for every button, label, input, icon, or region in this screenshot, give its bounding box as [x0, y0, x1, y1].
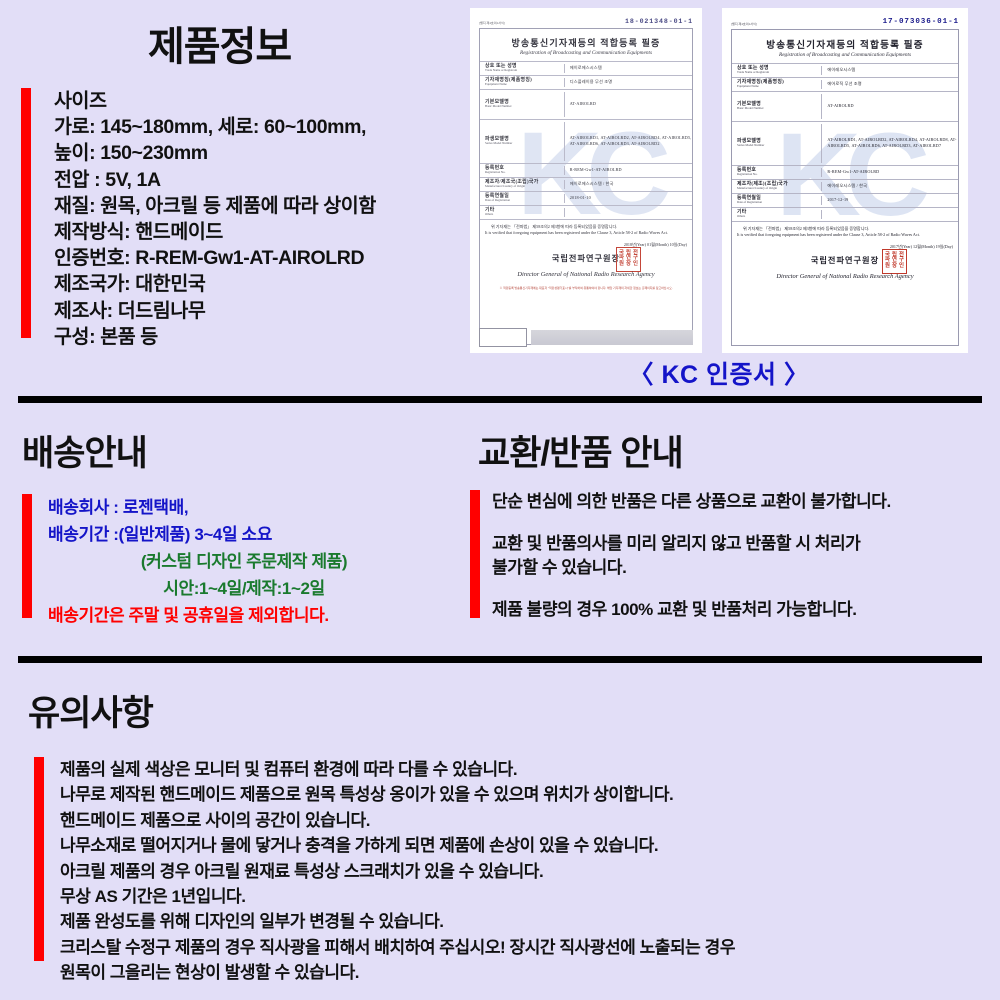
certificate-field-row: 등록연월일Date of Registration2017-12-19 — [732, 193, 958, 207]
certificate-1-verify-en: It is verified that foregoing equipment … — [485, 230, 687, 236]
certificate-2-doc-number: 17-073036-01-1 — [883, 18, 959, 26]
kc-certificate-image-2[interactable]: [별지 제4호의2서식] 17-073036-01-1 KC 방송통신기자재등의… — [722, 8, 968, 353]
certificate-2-signer-ko: 국립전파연구원장 국립전 파연구 원장인 — [737, 255, 953, 268]
exchange-return-policy-item: 제품 불량의 경우 100% 교환 및 반품처리 가능합니다. — [492, 598, 992, 622]
certificate-field-label-en: Others — [485, 213, 564, 216]
product-spec-line: 제조국가: 대한민국 — [54, 271, 454, 297]
shipping-accent-bar — [22, 494, 32, 618]
certificate-field-label: 등록연월일Date of Registration — [480, 194, 565, 203]
certificate-field-row: 기본모델명Basic Model NumberAT-AIROLRD — [480, 89, 692, 119]
certificate-field-row: 파생모델명Series Model NumberAT-AIROLRD1, AT-… — [480, 119, 692, 163]
certificate-field-value: 에어로직 무선 조명 — [822, 81, 958, 87]
certificate-field-label: 기본모델명Basic Model Number — [480, 92, 565, 117]
certificate-field-value: 에이로에스시스템 / 한국 — [565, 181, 692, 187]
certificate-field-label: 제조자/제조국(조립)국가Manufacturer/Country of Ori… — [480, 180, 565, 189]
certificate-field-label-en: Basic Model Number — [737, 107, 821, 110]
certificate-1-title-en: Registration of Broadcasting and Communi… — [480, 50, 692, 56]
certificate-field-label: 등록연월일Date of Registration — [732, 196, 822, 205]
shipping-info-line: (커스텀 디자인 주문제작 제품) — [48, 548, 458, 575]
notice-line: 제품 완성도를 위해 디자인의 일부가 변경될 수 있습니다. — [60, 909, 990, 934]
certificate-field-label-en: Registration No. — [737, 173, 821, 176]
certificate-1-topline: [별지 제4호의2서식] 18-021348-01-1 — [479, 18, 693, 25]
certificate-field-value: 에이레오시스템 — [822, 67, 958, 73]
certificate-field-label: 기자재명칭(제품명칭)Equipment Name — [732, 80, 822, 89]
kc-certificate-image-1[interactable]: [별지 제4호의2서식] 18-021348-01-1 KC 방송통신기자재등의… — [470, 8, 702, 353]
certificate-field-label-en: Others — [737, 215, 821, 218]
certificate-2-date: 2017년(Year) 12월(Month) 19일(Day) — [737, 244, 953, 250]
shipping-info-line: 시안:1~4일/제작:1~2일 — [48, 575, 458, 602]
certificate-field-value: R-REM-Gw1-AT-AIROLRD — [822, 169, 958, 175]
certificate-1-footnote: ※ 적합등록 방송통신기자재에는 대표자 "적합성평가표시"를 부착하여 유통하… — [485, 286, 687, 290]
exchange-return-policy-list: 단순 변심에 의한 반품은 다른 상품으로 교환이 불가합니다.교환 및 반품의… — [492, 490, 992, 622]
certificate-field-label: 파생모델명Series Model Number — [732, 124, 822, 163]
certificate-field-label: 기본모델명Basic Model Number — [732, 94, 822, 119]
notice-accent-bar — [34, 757, 44, 961]
certificate-field-label-en: Equipment Name — [737, 85, 821, 88]
certificate-1-signer-ko: 국립전파연구원장 국립전 파연구 원장인 — [485, 253, 687, 266]
certificate-1-body: KC 방송통신기자재등의 적합등록 필증 Registration of Bro… — [479, 28, 693, 345]
certificate-1-content: [별지 제4호의2서식] 18-021348-01-1 KC 방송통신기자재등의… — [470, 8, 702, 353]
product-spec-list: 사이즈가로: 145~180mm, 세로: 60~100mm,높이: 150~2… — [54, 88, 454, 350]
certificate-field-label: 기타Others — [480, 208, 565, 217]
certificate-2-title-ko: 방송통신기자재등의 적합등록 필증 — [732, 37, 958, 51]
certificate-1-bottom-strip — [479, 328, 693, 347]
product-spec-line: 사이즈 — [54, 88, 454, 114]
certificate-field-value: AT-AIROLRD1, AT-AIROLRD2, AT-AIROLRD4, A… — [822, 137, 958, 149]
notice-list: 제품의 실제 색상은 모니터 및 컴퓨터 환경에 따라 다를 수 있습니다.나무… — [60, 757, 990, 986]
certificate-1-date: 2018년(Year) 01월(Month) 10일(Day) — [485, 242, 687, 248]
certificate-field-label-en: Series Model Number — [485, 142, 564, 145]
certificate-field-label: 파생모델명Series Model Number — [480, 122, 565, 161]
exchange-return-accent-bar — [470, 490, 480, 618]
certificate-1-field-rows: 상호 또는 성명Trade Name or Registrant에이로에스시스템… — [480, 61, 692, 219]
certificate-1-signer-ko-text: 국립전파연구원장 — [552, 254, 620, 263]
certificate-2-body: KC 방송통신기자재등의 적합등록 필증 Registration of Bro… — [731, 29, 959, 346]
product-spec-line: 인증번호: R-REM-Gw1-AT-AIROLRD — [54, 245, 454, 271]
official-seal-stamp-icon: 국립전 파연구 원장인 — [882, 249, 907, 274]
certificate-2-topline: [별지 제4호의2서식] 17-073036-01-1 — [731, 18, 959, 26]
certificate-field-row: 등록번호Registration No.R-REM-Gw1-AT-AIROLRD — [732, 165, 958, 179]
certificate-field-label-en: Date of Registration — [737, 201, 821, 204]
certificate-field-value: 2017-12-19 — [822, 197, 958, 203]
certificate-2-field-rows: 상호 또는 성명Trade Name or Registrant에이레오시스템기… — [732, 63, 958, 221]
certificate-field-value: 에이로에스시스템 — [565, 65, 692, 71]
certificate-field-row: 등록번호Registration No.R-REM-Gw1-AT-AIROLRD — [480, 163, 692, 177]
certificate-field-row: 제조자(제조)(조립)국가Manufacturer/Country of Ori… — [732, 179, 958, 193]
certificate-2-title-en: Registration of Broadcasting and Communi… — [732, 52, 958, 58]
certificate-1-doc-number: 18-021348-01-1 — [625, 18, 693, 25]
certificate-field-row: 상호 또는 성명Trade Name or Registrant에이레오시스템 — [732, 63, 958, 77]
notice-line: 제품의 실제 색상은 모니터 및 컴퓨터 환경에 따라 다를 수 있습니다. — [60, 757, 990, 782]
certificate-2-form-code: [별지 제4호의2서식] — [731, 21, 757, 26]
certificate-field-label-en: Manufacturer/Country of Origin — [485, 185, 564, 188]
notice-line: 무상 AS 기간은 1년입니다. — [60, 884, 990, 909]
product-detail-page: 제품정보 사이즈가로: 145~180mm, 세로: 60~100mm,높이: … — [0, 0, 1000, 1000]
certificate-field-row: 등록연월일Date of Registration2018-01-10 — [480, 191, 692, 205]
certificate-field-label: 등록번호Registration No. — [480, 166, 565, 175]
certificate-1-title-ko: 방송통신기자재등의 적합등록 필증 — [480, 36, 692, 49]
certificate-2-verify-en: It is verified that foregoing equipment … — [737, 232, 953, 238]
notice-heading: 유의사항 — [28, 685, 153, 736]
certificate-field-row: 기본모델명Basic Model NumberAT-AIROLRD — [732, 91, 958, 121]
notice-line: 핸드메이드 제품으로 사이의 공간이 있습니다. — [60, 808, 990, 833]
certificate-1-footer: 위 기자재는 「전파법」 제58조의2 제3항에 따라 등록되었음을 증명합니다… — [480, 219, 692, 291]
product-info-heading: 제품정보 — [148, 14, 291, 72]
certificate-field-label-en: Manufacturer/Country of Origin — [737, 187, 821, 190]
kc-certificate-caption: 〈 KC 인증서 〉 — [470, 355, 968, 391]
certificate-field-value: 에이레오시스템 / 한국 — [822, 183, 958, 189]
shipping-info-list: 배송회사 : 로젠택배,배송기간 :(일반제품) 3~4일 소요(커스텀 디자인… — [48, 494, 458, 629]
certificate-field-label-en: Date of Registration — [485, 199, 564, 202]
certificate-field-value: AT-AIROLRD — [565, 101, 692, 107]
certificate-field-label-en: Registration No. — [485, 171, 564, 174]
certificate-field-label: 상호 또는 성명Trade Name or Registrant — [732, 66, 822, 75]
certificate-field-label-en: Equipment Name — [485, 83, 564, 86]
notice-line: 아크릴 제품의 경우 아크릴 원재료 특성상 스크래치가 있을 수 있습니다. — [60, 859, 990, 884]
certificate-2-signer-en: Director General of National Radio Resea… — [737, 272, 953, 282]
certificate-field-label-en: Trade Name or Registrant — [485, 69, 564, 72]
product-spec-line: 전압 : 5V, 1A — [54, 167, 454, 193]
certificate-field-value: AT-AIROLRD — [822, 103, 958, 109]
certificate-field-value: 디스플레이용 무선 조명 — [565, 79, 692, 85]
exchange-return-policy-item: 단순 변심에 의한 반품은 다른 상품으로 교환이 불가합니다. — [492, 490, 992, 514]
certificate-field-row: 기자재명칭(제품명칭)Equipment Name디스플레이용 무선 조명 — [480, 75, 692, 89]
certificate-1-form-code: [별지 제4호의2서식] — [479, 20, 505, 25]
certificate-field-row: 기자재명칭(제품명칭)Equipment Name에어로직 무선 조명 — [732, 77, 958, 91]
product-spec-line: 제조사: 더드림나무 — [54, 298, 454, 324]
certificate-field-row: 파생모델명Series Model NumberAT-AIROLRD1, AT-… — [732, 121, 958, 165]
shipping-info-line: 배송기간은 주말 및 공휴일을 제외합니다. — [48, 602, 458, 629]
product-spec-line: 제작방식: 핸드메이드 — [54, 219, 454, 245]
product-spec-line: 구성: 본품 등 — [54, 324, 454, 350]
exchange-return-policy-item: 교환 및 반품의사를 미리 알리지 않고 반품할 시 처리가불가할 수 있습니다… — [492, 532, 992, 580]
certificate-field-label-en: Series Model Number — [737, 144, 821, 147]
certificate-field-row: 기타Others — [480, 205, 692, 219]
certificate-field-row: 기타Others — [732, 207, 958, 221]
certificate-2-footer: 위 기자재는 「전파법」 제58조의2 제3항에 따라 등록되었음을 증명합니다… — [732, 221, 958, 283]
exchange-return-heading: 교환/반품 안내 — [478, 425, 683, 476]
certificate-field-row: 제조자/제조국(조립)국가Manufacturer/Country of Ori… — [480, 177, 692, 191]
shipping-heading: 배송안내 — [22, 425, 147, 476]
certificate-field-value: R-REM-Gw1-AT-AIROLRD — [565, 167, 692, 173]
section-divider-1 — [18, 396, 982, 403]
certificate-field-label-en: Basic Model Number — [485, 105, 564, 108]
certificate-field-row: 상호 또는 성명Trade Name or Registrant에이로에스시스템 — [480, 61, 692, 75]
certificate-field-value: AT-AIROLRD1, AT-AIROLRD2, AT-AIROLRD4, A… — [565, 135, 692, 147]
official-seal-stamp-icon: 국립전 파연구 원장인 — [616, 247, 641, 272]
certificate-field-label: 등록번호Registration No. — [732, 168, 822, 177]
certificate-field-label: 제조자(제조)(조립)국가Manufacturer/Country of Ori… — [732, 182, 822, 191]
notice-line: 크리스탈 수정구 제품의 경우 직사광을 피해서 배치하여 주십시오! 장시간 … — [60, 935, 990, 960]
product-spec-line: 재질: 원목, 아크릴 등 제품에 따라 상이함 — [54, 193, 454, 219]
certificate-1-signer-en: Director General of National Radio Resea… — [485, 270, 687, 280]
certificate-field-label: 상호 또는 성명Trade Name or Registrant — [480, 64, 565, 73]
certificate-field-value: 2018-01-10 — [565, 195, 692, 201]
shipping-info-line: 배송기간 :(일반제품) 3~4일 소요 — [48, 521, 458, 548]
notice-line: 원목이 그을리는 현상이 발생할 수 있습니다. — [60, 960, 990, 985]
section-divider-2 — [18, 656, 982, 663]
certificate-field-label: 기자재명칭(제품명칭)Equipment Name — [480, 78, 565, 87]
product-info-accent-bar — [21, 88, 31, 338]
shipping-info-line: 배송회사 : 로젠택배, — [48, 494, 458, 521]
certificate-1-stamp-box — [479, 328, 527, 347]
certificate-2-content: [별지 제4호의2서식] 17-073036-01-1 KC 방송통신기자재등의… — [722, 8, 968, 353]
notice-line: 나무로 제작된 핸드메이드 제품으로 원목 특성상 옹이가 있을 수 있으며 위… — [60, 782, 990, 807]
notice-line: 나무소재로 떨어지거나 물에 닿거나 충격을 가하게 되면 제품에 손상이 있을… — [60, 833, 990, 858]
certificate-2-signer-ko-text: 국립전파연구원장 — [811, 256, 879, 265]
certificate-1-gray-bar — [531, 330, 693, 345]
certificate-field-label: 기타Others — [732, 210, 822, 219]
product-spec-line: 가로: 145~180mm, 세로: 60~100mm, — [54, 114, 454, 140]
certificate-field-label-en: Trade Name or Registrant — [737, 71, 821, 74]
product-spec-line: 높이: 150~230mm — [54, 140, 454, 166]
